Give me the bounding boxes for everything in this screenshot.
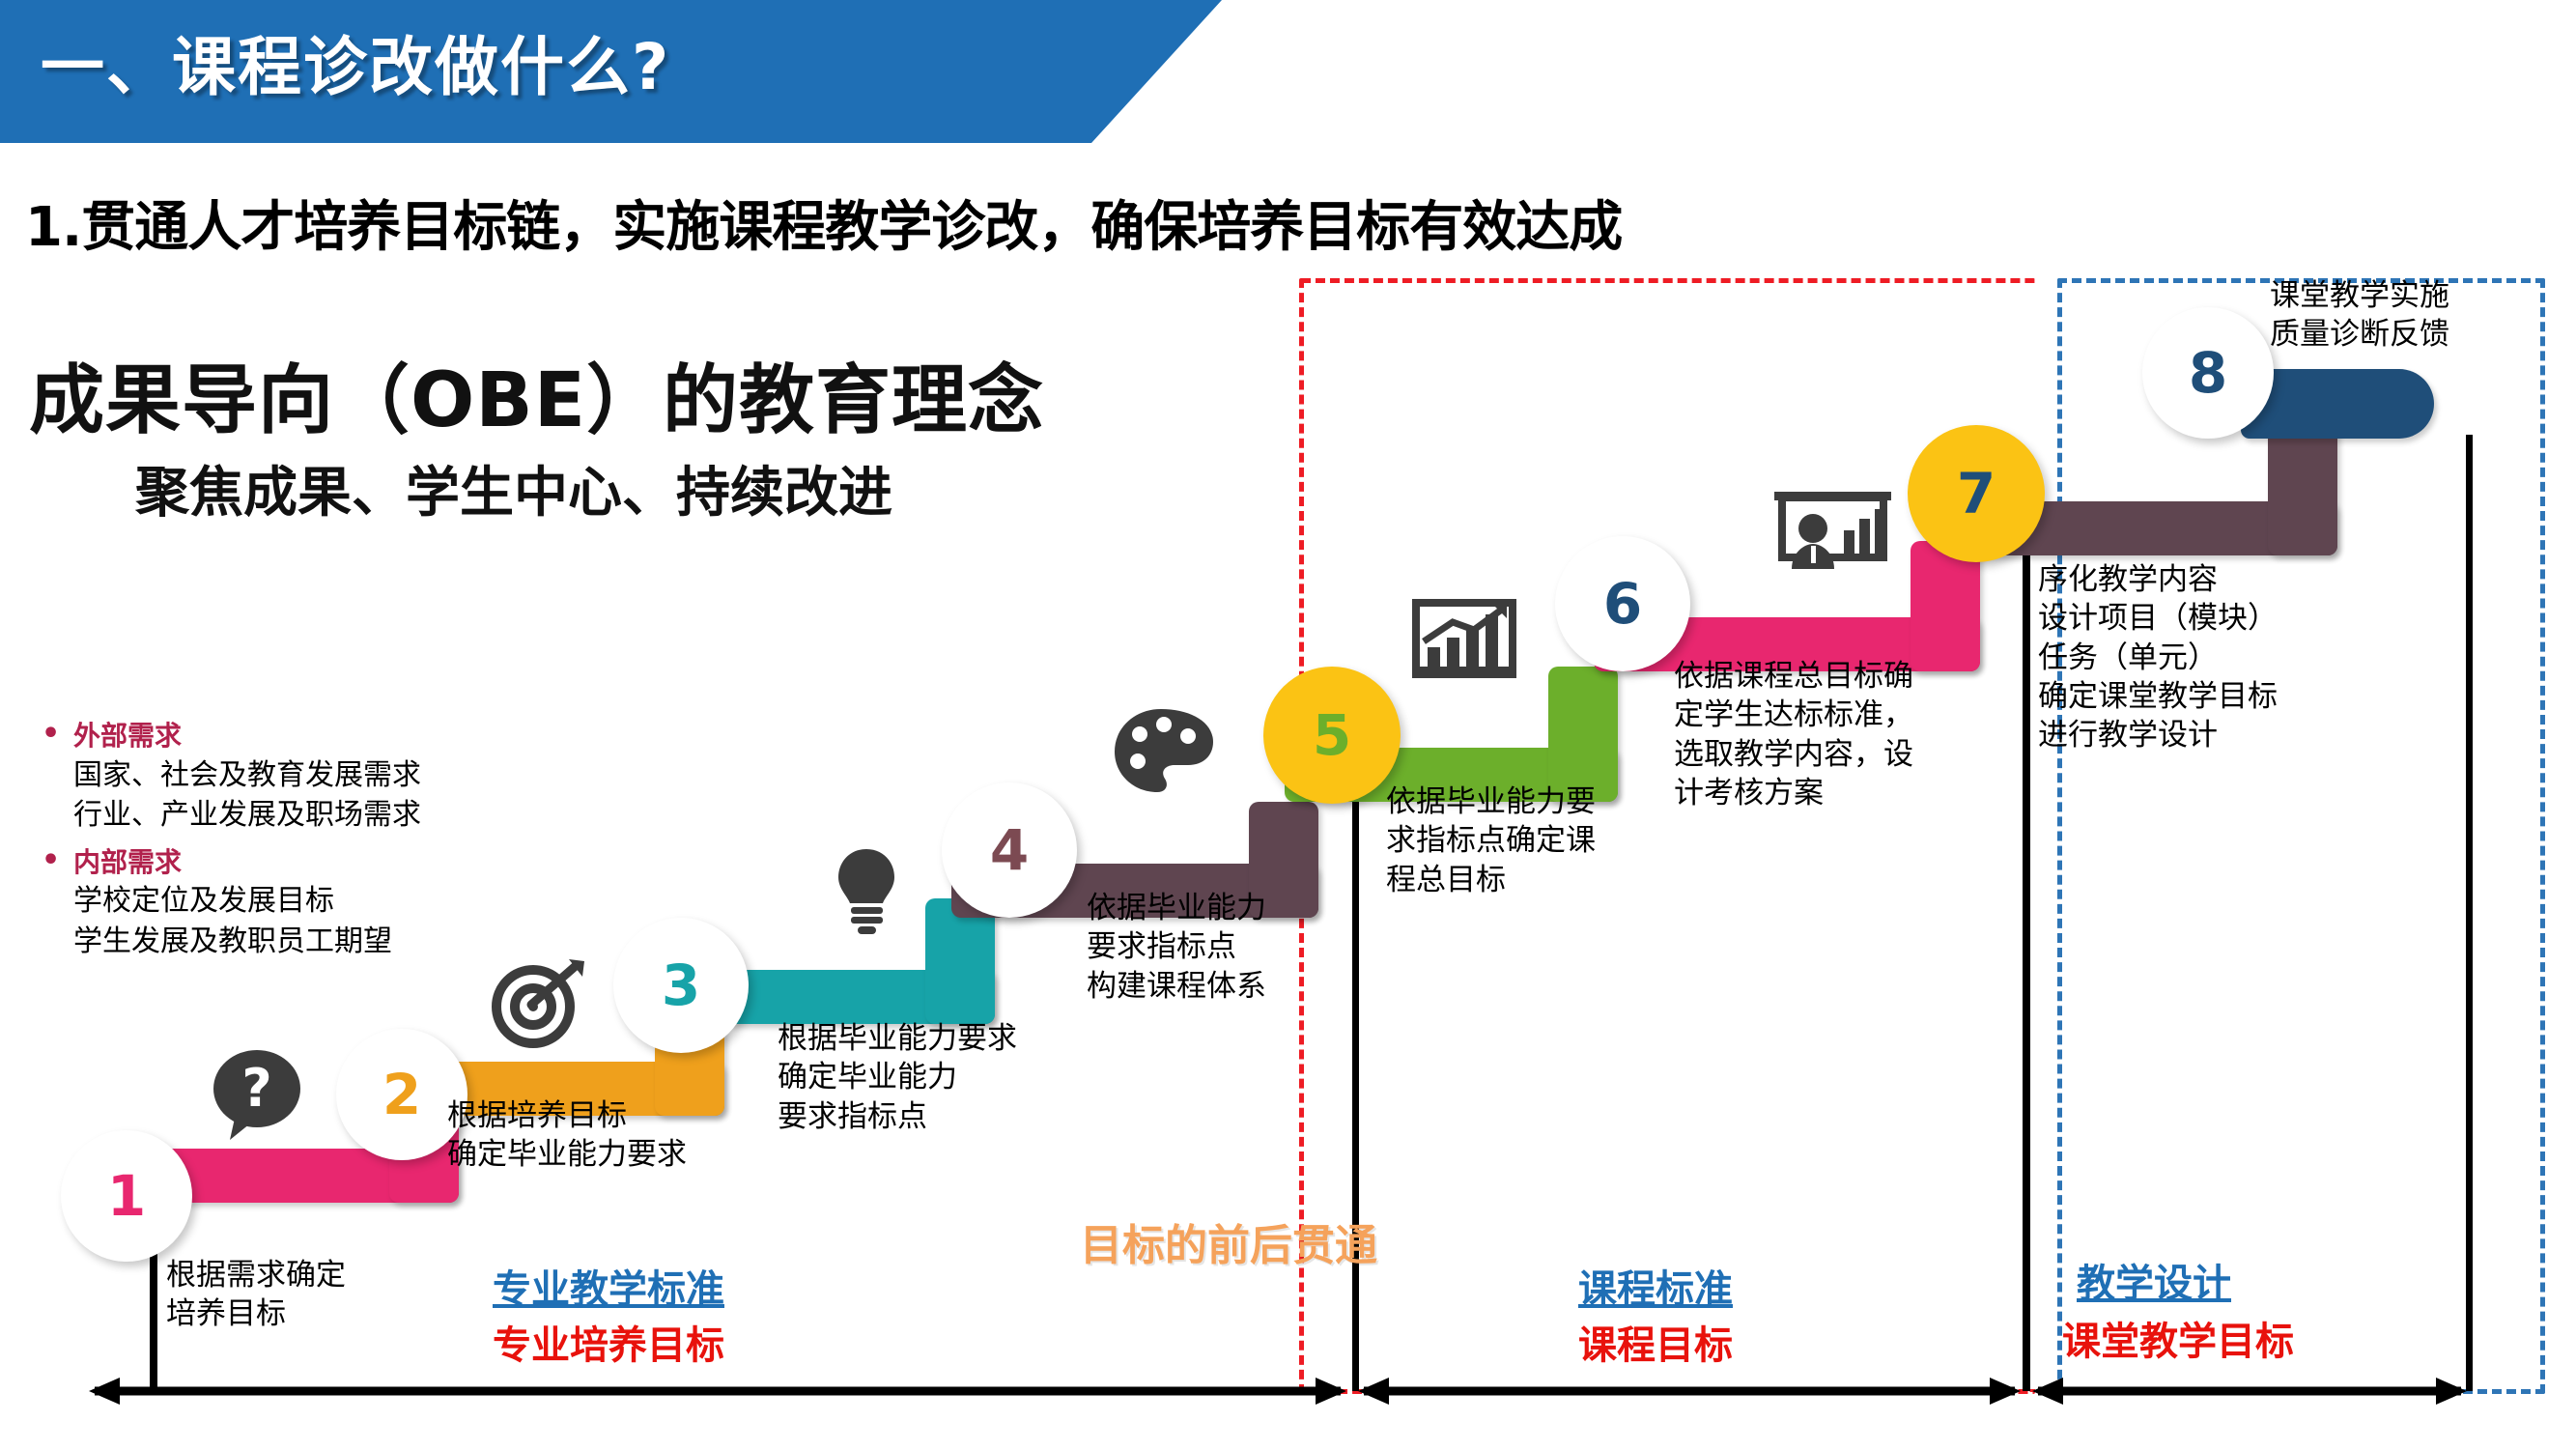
- step-circle-5-label: 5: [1313, 702, 1351, 768]
- step-circle-1-label: 1: [107, 1163, 146, 1229]
- need-group-external: 外部需求 国家、社会及教育发展需求 行业、产业发展及职场需求: [37, 717, 578, 836]
- question-bubble-icon: ?: [211, 1048, 303, 1148]
- step-desc-5: 依据毕业能力要 求指标点确定课 程总目标: [1386, 782, 1596, 899]
- need-line: 国家、社会及教育发展需求: [73, 755, 578, 795]
- step-desc-6: 依据课程总目标确 定学生达标标准， 选取教学内容，设 计考核方案: [1674, 657, 1913, 812]
- boundary-line-2: [2023, 541, 2030, 1391]
- step-desc-4: 依据毕业能力 要求指标点 构建课程体系: [1087, 889, 1266, 1006]
- region-standard-1: 专业教学标准: [493, 1258, 724, 1314]
- bottom-axis-arrows: [0, 1352, 2576, 1449]
- need-line: 学生发展及教职员工期望: [73, 922, 578, 961]
- target-dart-icon: [488, 956, 589, 1053]
- step-circle-7[interactable]: 7: [1908, 425, 2045, 562]
- step-desc-2: 根据培养目标 确定毕业能力要求: [447, 1096, 687, 1175]
- obe-subline: 聚焦成果、学生中心、持续改进: [135, 449, 892, 527]
- step-circle-6-label: 6: [1603, 571, 1642, 637]
- step-circle-6[interactable]: 6: [1555, 536, 1690, 671]
- step-desc-1: 根据需求确定 培养目标: [166, 1256, 346, 1334]
- lightbulb-icon: [831, 845, 903, 942]
- need-head-internal: 内部需求: [73, 843, 578, 882]
- boundary-line-1: [1352, 792, 1359, 1391]
- region-standard-3: 教学设计: [2077, 1252, 2231, 1308]
- palette-icon: [1111, 705, 1217, 802]
- step-circle-7-label: 7: [1957, 461, 1996, 526]
- step-circle-1[interactable]: 1: [61, 1130, 192, 1262]
- step-circle-8-label: 8: [2189, 340, 2227, 406]
- step-desc-8: 课堂教学实施 质量诊断反馈: [2270, 276, 2449, 355]
- presenter-chart-icon: [1772, 488, 1893, 580]
- boundary-line-3: [2466, 435, 2473, 1391]
- step-circle-2-label: 2: [382, 1062, 421, 1127]
- step-circle-4-label: 4: [990, 817, 1029, 883]
- step-circle-3-label: 3: [662, 952, 700, 1018]
- step-desc-3: 根据毕业能力要求 确定毕业能力 要求指标点: [778, 1019, 1017, 1136]
- chart-growth-icon: [1410, 599, 1521, 691]
- step-circle-5[interactable]: 5: [1263, 667, 1401, 804]
- need-line: 行业、产业发展及职场需求: [73, 795, 578, 835]
- needs-list: 外部需求 国家、社会及教育发展需求 行业、产业发展及职场需求 内部需求 学校定位…: [37, 717, 578, 969]
- step-circle-3[interactable]: 3: [613, 918, 749, 1053]
- slide-root: 一、课程诊改做什么? 1.贯通人才培养目标链，实施课程教学诊改，确保培养目标有效…: [0, 0, 2576, 1450]
- region-standard-2: 课程标准: [1578, 1258, 1733, 1314]
- svg-text:?: ?: [241, 1058, 271, 1119]
- step-bar-7-riser: [2268, 425, 2337, 555]
- step-desc-7: 序化教学内容 设计项目（模块） 任务（单元） 确定课堂教学目标 进行教学设计: [2038, 560, 2278, 754]
- through-label: 目标的前后贯通: [1080, 1210, 1377, 1272]
- need-line: 学校定位及发展目标: [73, 881, 578, 921]
- subheading: 1.贯通人才培养目标链，实施课程教学诊改，确保培养目标有效达成: [25, 184, 1622, 262]
- page-title: 一、课程诊改做什么?: [41, 15, 670, 108]
- step-bar-5-riser: [1548, 667, 1618, 802]
- need-head-external: 外部需求: [73, 717, 578, 755]
- obe-headline: 成果导向（OBE）的教育理念: [29, 340, 1044, 448]
- need-group-internal: 内部需求 学校定位及发展目标 学生发展及教职员工期望: [37, 843, 578, 962]
- step-circle-8[interactable]: 8: [2142, 307, 2274, 439]
- step-circle-4[interactable]: 4: [942, 782, 1077, 918]
